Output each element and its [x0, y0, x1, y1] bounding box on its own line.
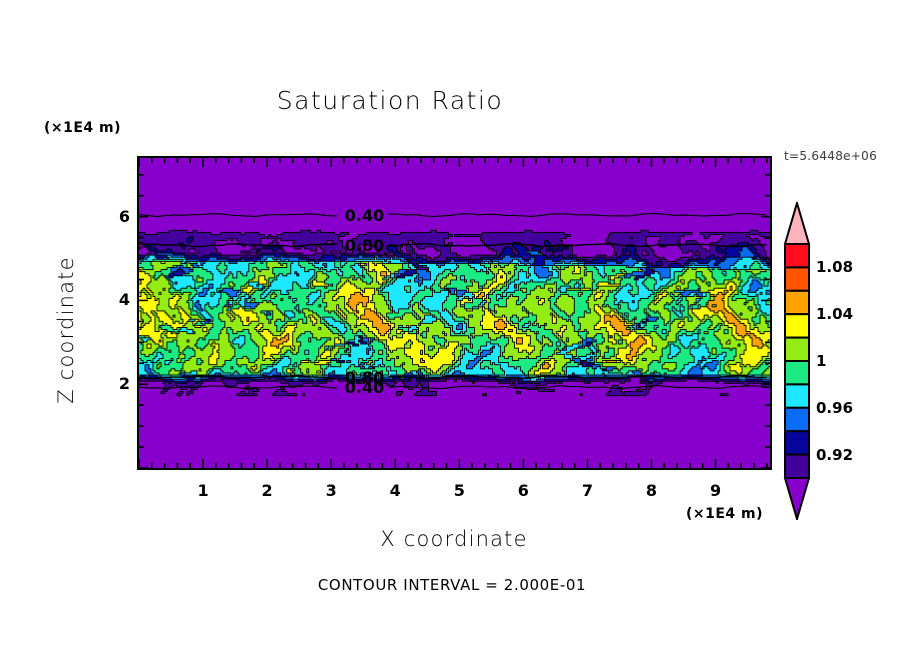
colorbar-swatches — [782, 202, 812, 520]
colorbar-band — [785, 455, 809, 478]
colorbar-band — [785, 314, 809, 337]
contour-plot-area: 0.400.800.800.40 — [137, 156, 772, 470]
colorbar-band — [785, 338, 809, 361]
colorbar-band — [785, 408, 809, 431]
contour-label: 0.40 — [345, 206, 384, 225]
contour-label: 0.80 — [345, 236, 384, 255]
contour-interval-caption: CONTOUR INTERVAL = 2.000E-01 — [0, 576, 904, 594]
colorbar-label-0-92: 0.92 — [816, 446, 853, 464]
colorbar-label-1: 1 — [816, 352, 826, 370]
x-tick-5: 5 — [449, 481, 469, 500]
colorbar-band — [785, 431, 809, 454]
y-tick-4: 4 — [108, 290, 130, 309]
colorbar-band — [785, 384, 809, 407]
x-axis-title: X coordinate — [0, 527, 904, 551]
colorbar-band — [785, 291, 809, 314]
x-tick-8: 8 — [641, 481, 661, 500]
colorbar-extend-top — [785, 203, 809, 244]
colorbar-band — [785, 361, 809, 384]
x-tick-4: 4 — [385, 481, 405, 500]
colorbar-label-1-04: 1.04 — [816, 305, 853, 323]
y-tick-2: 2 — [108, 374, 130, 393]
x-tick-9: 9 — [706, 481, 726, 500]
colorbar-extend-bottom — [785, 478, 809, 519]
figure-canvas: Saturation Ratio (×1E4 m) t=5.6448e+06 0… — [0, 0, 904, 654]
colorbar-label-1-08: 1.08 — [816, 258, 853, 276]
x-tick-6: 6 — [513, 481, 533, 500]
page-title: Saturation Ratio — [0, 86, 780, 115]
contour-label: 0.40 — [345, 378, 384, 397]
x-tick-1: 1 — [193, 481, 213, 500]
y-axis-unit-label: (×1E4 m) — [44, 120, 121, 136]
x-tick-3: 3 — [321, 481, 341, 500]
x-tick-7: 7 — [577, 481, 597, 500]
time-annotation: t=5.6448e+06 — [784, 149, 877, 163]
y-tick-6: 6 — [108, 207, 130, 226]
colorbar — [782, 202, 812, 520]
colorbar-label-0-96: 0.96 — [816, 399, 853, 417]
x-tick-2: 2 — [257, 481, 277, 500]
contour-field: 0.400.800.800.40 — [139, 158, 770, 468]
x-axis-unit-label: (×1E4 m) — [686, 506, 763, 522]
y-axis-title: Z coordinate — [54, 230, 78, 430]
colorbar-band — [785, 267, 809, 290]
colorbar-band — [785, 244, 809, 267]
